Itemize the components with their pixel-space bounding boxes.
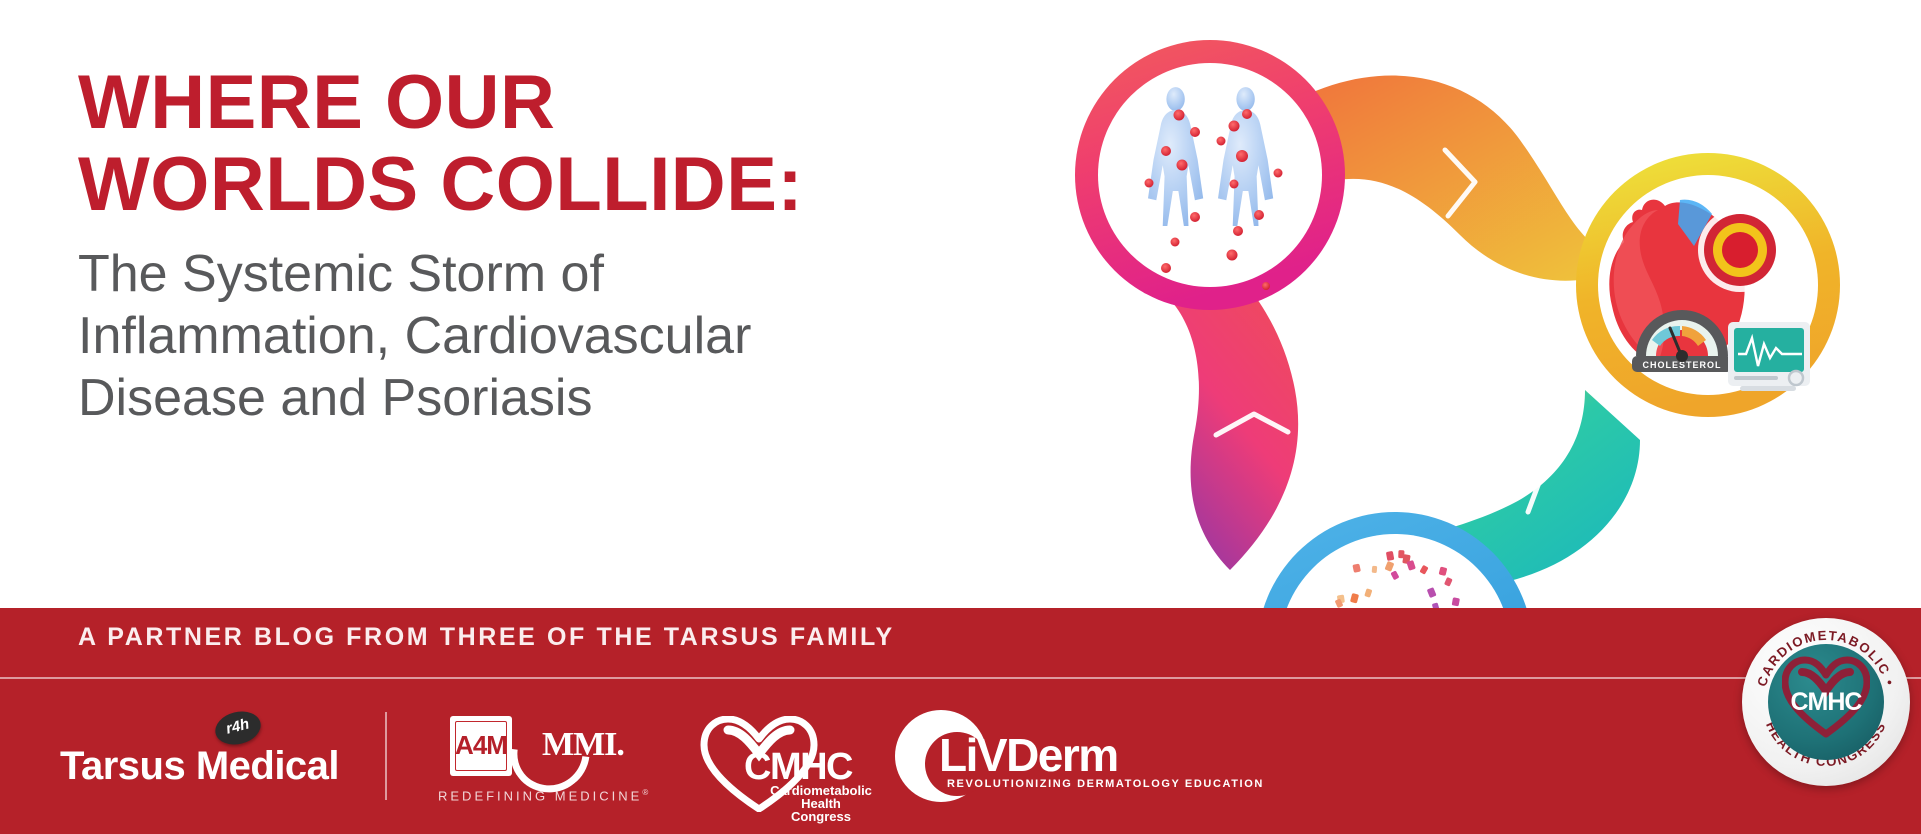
livderm-word-a: LiV bbox=[939, 729, 1006, 781]
page-subtitle-line-1: The Systemic Storm of bbox=[78, 243, 958, 305]
page-title-line-2: WORLDS COLLIDE: bbox=[78, 144, 938, 226]
a4m-tagline-mark: ® bbox=[642, 788, 651, 797]
a4m-mmi-logo[interactable]: A4M MMI. REDEFINING MEDICINE® bbox=[438, 708, 678, 814]
cmhc-seal[interactable]: CARDIOMETABOLIC • HEALTH CONGRESS CMHC bbox=[1742, 618, 1910, 786]
page-subtitle-line-3: Disease and Psoriasis bbox=[78, 367, 958, 429]
page-title-line-1: WHERE OUR bbox=[78, 62, 938, 144]
cardiovascular-circle: CHOLESTEROL bbox=[1576, 153, 1840, 417]
partner-banner-text: A PARTNER BLOG FROM THREE OF THE TARSUS … bbox=[78, 623, 895, 652]
page-subtitle: The Systemic Storm of Inflammation, Card… bbox=[78, 243, 958, 429]
livderm-wordmark: LiVDerm bbox=[939, 728, 1118, 782]
page-title: WHERE OUR WORLDS COLLIDE: bbox=[78, 62, 938, 226]
banner-divider bbox=[0, 677, 1921, 679]
ecg-monitor-icon bbox=[1728, 322, 1810, 391]
a4m-mark-icon: A4M bbox=[450, 716, 512, 776]
logo-divider bbox=[385, 712, 387, 800]
livderm-word-b: Derm bbox=[1006, 729, 1118, 781]
cmhc-logo[interactable]: CMHC Cardiometabolic Health Congress bbox=[700, 704, 900, 816]
partner-logo-row: Tarsus Medical r4h A4M MMI. REDEFINING M… bbox=[0, 688, 1460, 834]
tarsus-medical-badge-text: r4h bbox=[213, 712, 262, 743]
partner-banner: A PARTNER BLOG FROM THREE OF THE TARSUS … bbox=[0, 608, 1921, 834]
livderm-tagline: REVOLUTIONIZING DERMATOLOGY EDUCATION bbox=[947, 778, 1264, 790]
cmhc-subtitle-line-3: Congress bbox=[746, 810, 896, 823]
tarsus-medical-logo[interactable]: Tarsus Medical r4h bbox=[60, 714, 360, 804]
cmhc-subtitle: Cardiometabolic Health Congress bbox=[746, 784, 896, 823]
inflammation-circle bbox=[1075, 40, 1345, 310]
tarsus-medical-wordmark: Tarsus Medical bbox=[60, 744, 339, 789]
blog-banner-graphic: WHERE OUR WORLDS COLLIDE: The Systemic S… bbox=[0, 0, 1921, 834]
livderm-logo[interactable]: LiVDerm REVOLUTIONIZING DERMATOLOGY EDUC… bbox=[895, 706, 1175, 814]
cmhc-seal-wordmark: CMHC bbox=[1768, 688, 1884, 717]
a4m-tagline-text: REDEFINING MEDICINE bbox=[438, 788, 642, 803]
cmhc-seal-center: CMHC bbox=[1768, 644, 1884, 760]
tarsus-medical-badge-icon: r4h bbox=[212, 707, 264, 749]
a4m-mark-text: A4M bbox=[450, 730, 512, 760]
page-subtitle-line-2: Inflammation, Cardiovascular bbox=[78, 305, 958, 367]
mmi-wordmark: MMI. bbox=[542, 726, 624, 764]
a4m-tagline: REDEFINING MEDICINE® bbox=[438, 788, 651, 803]
